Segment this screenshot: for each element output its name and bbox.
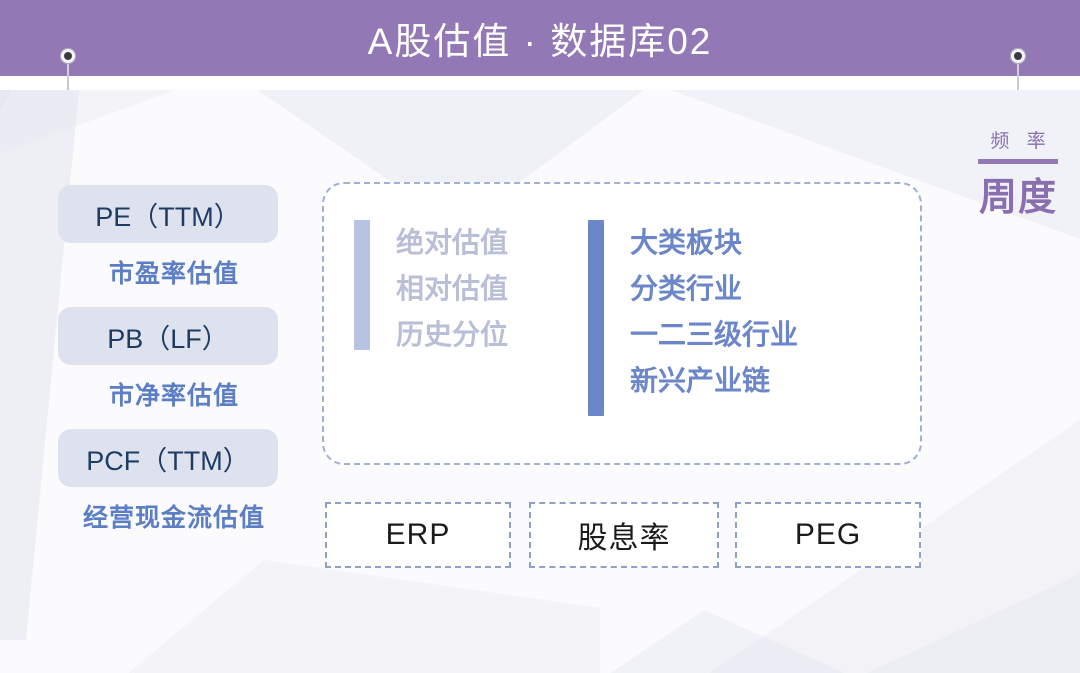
background-facet [120, 560, 600, 673]
slide-root: A股估值 · 数据库02 PE（TTM） 市盈率估值 PB（LF） 市净率估值 [0, 0, 1080, 673]
coverage-group: 大类板块 分类行业 一二三级行业 新兴产业链 [588, 220, 798, 463]
frequency-block: 频 率 周度 [975, 126, 1061, 221]
background-facet [600, 610, 860, 673]
list-item[interactable]: 一二三级行业 [630, 312, 798, 358]
content-panel: PE（TTM） 市盈率估值 PB（LF） 市净率估值 PCF（TTM） 经营现金… [0, 90, 1080, 673]
frequency-label: 频 率 [975, 126, 1061, 153]
list-item[interactable]: 绝对估值 [396, 220, 508, 266]
tag-dividend-yield[interactable]: 股息率 [529, 502, 719, 568]
pin-head-icon [60, 48, 76, 64]
metric-item: PE（TTM） 市盈率估值 [58, 185, 298, 290]
metric-code-pill[interactable]: PB（LF） [58, 307, 278, 365]
metric-item: PB（LF） 市净率估值 [58, 307, 298, 412]
valuation-methods-group: 绝对估值 相对估值 历史分位 [354, 220, 508, 463]
valuation-box: 绝对估值 相对估值 历史分位 大类板块 分类行业 一二三级行业 新兴产业链 [322, 182, 922, 465]
slide-header: A股估值 · 数据库02 [0, 0, 1080, 76]
pin-head-icon [1010, 48, 1026, 64]
page-title: A股估值 · 数据库02 [0, 0, 1080, 76]
coverage-list: 大类板块 分类行业 一二三级行业 新兴产业链 [630, 220, 798, 404]
metric-code-pill[interactable]: PCF（TTM） [58, 429, 278, 487]
valuation-methods-list: 绝对估值 相对估值 历史分位 [396, 220, 508, 358]
group-accent-bar [588, 220, 604, 416]
list-item[interactable]: 相对估值 [396, 266, 508, 312]
metric-item: PCF（TTM） 经营现金流估值 [58, 429, 298, 534]
frequency-divider [978, 159, 1058, 164]
metric-caption: 市净率估值 [58, 376, 290, 412]
group-accent-bar [354, 220, 370, 350]
metric-caption: 市盈率估值 [58, 254, 290, 290]
list-item[interactable]: 分类行业 [630, 266, 798, 312]
frequency-value: 周度 [975, 166, 1061, 221]
tag-row: ERP 股息率 PEG [325, 502, 921, 568]
tag-peg[interactable]: PEG [735, 502, 921, 568]
list-item[interactable]: 大类板块 [630, 220, 798, 266]
tag-erp[interactable]: ERP [325, 502, 511, 568]
list-item[interactable]: 历史分位 [396, 312, 508, 358]
metric-code-pill[interactable]: PE（TTM） [58, 185, 278, 243]
metric-caption: 经营现金流估值 [50, 498, 298, 534]
list-item[interactable]: 新兴产业链 [630, 358, 798, 404]
metric-column: PE（TTM） 市盈率估值 PB（LF） 市净率估值 PCF（TTM） 经营现金… [58, 185, 298, 551]
